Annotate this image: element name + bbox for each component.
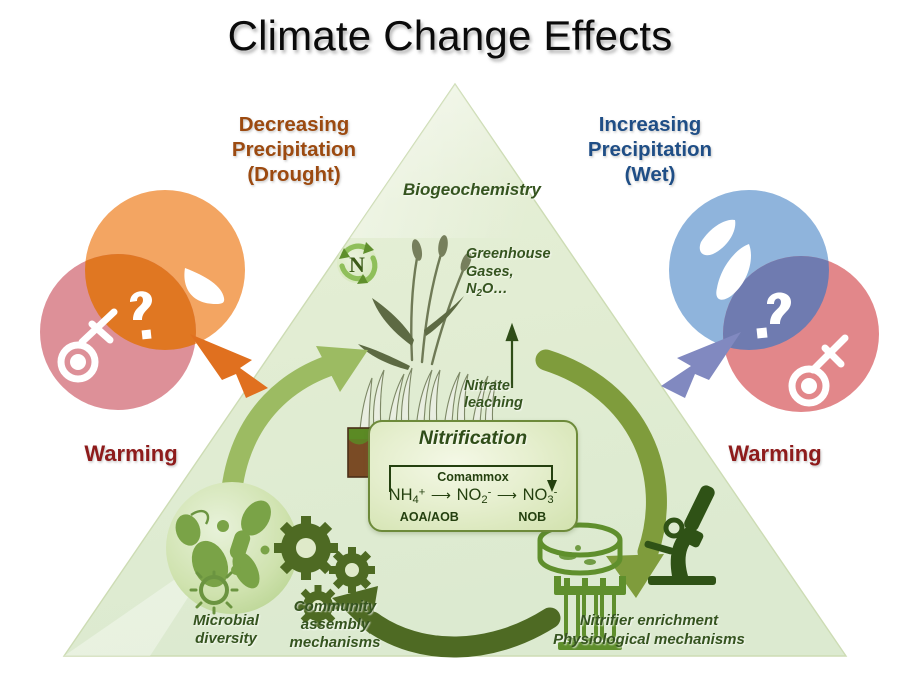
species-nh4: NH4+ [389,486,426,504]
microbial-line2: diversity [174,630,278,648]
enzyme-nob: NOB [518,510,546,524]
right-heading-line2: Precipitation [552,137,748,162]
wet-arrow [661,332,741,398]
nitrification-title: Nitrification [370,427,576,450]
drought-arrow [190,334,268,398]
page-title: Climate Change Effects [0,12,900,60]
left-panel-heading: Decreasing Precipitation (Drought) [196,112,392,187]
ghg-line3: N2O… [466,281,566,300]
community-line3: mechanisms [280,634,390,652]
chain-arrow-1: ⟶ [430,487,452,503]
community-assembly-label: Community assembly mechanisms [280,598,390,652]
nitrate-line2: leaching [464,395,560,412]
nitrate-leaching-label: Nitrate leaching [464,378,560,413]
nitrification-chain: NH4+ ⟶ NO2- ⟶ NO3- [370,486,576,506]
biogeochemistry-label: Biogeochemistry [382,180,562,200]
enzyme-row: AOA/AOB NOB [370,510,576,524]
nitrification-box: Nitrification Comammox NH4+ ⟶ NO2- ⟶ NO3… [368,420,578,532]
species-no3: NO3- [523,486,558,504]
svg-text:N: N [349,252,365,277]
ghg-line1: Greenhouse [466,246,566,264]
nitrifier-line1: Nitrifier enrichment [540,612,758,631]
right-heading-line1: Increasing [552,112,748,137]
community-line1: Community [280,598,390,616]
nitrate-line1: Nitrate [464,378,560,395]
right-panel-heading: Increasing Precipitation (Wet) [552,112,748,187]
wet-warming-venn [645,182,895,422]
right-heading-line3: (Wet) [552,162,748,187]
nitrifier-line2: Physiological mechanisms [540,631,758,650]
microbial-line1: Microbial [174,612,278,630]
left-warming-label: Warming [56,441,206,467]
nitrifier-enrichment-label: Nitrifier enrichment Physiological mecha… [540,612,758,649]
species-no2: NO2- [457,486,492,504]
diagram-canvas: Climate Change Effects [0,0,900,675]
chain-arrow-2: ⟶ [496,487,518,503]
microbial-diversity-label: Microbial diversity [174,612,278,648]
community-line2: assembly [280,616,390,634]
ghg-line2: Gases, [466,264,566,282]
comammox-label: Comammox [370,470,576,484]
enzyme-aoa-aob: AOA/AOB [400,510,459,524]
left-heading-line1: Decreasing [196,112,392,137]
drought-warming-venn [30,182,280,422]
greenhouse-gases-label: Greenhouse Gases, N2O… [466,246,566,300]
right-warming-label: Warming [700,441,850,467]
left-heading-line2: Precipitation [196,137,392,162]
left-heading-line3: (Drought) [196,162,392,187]
